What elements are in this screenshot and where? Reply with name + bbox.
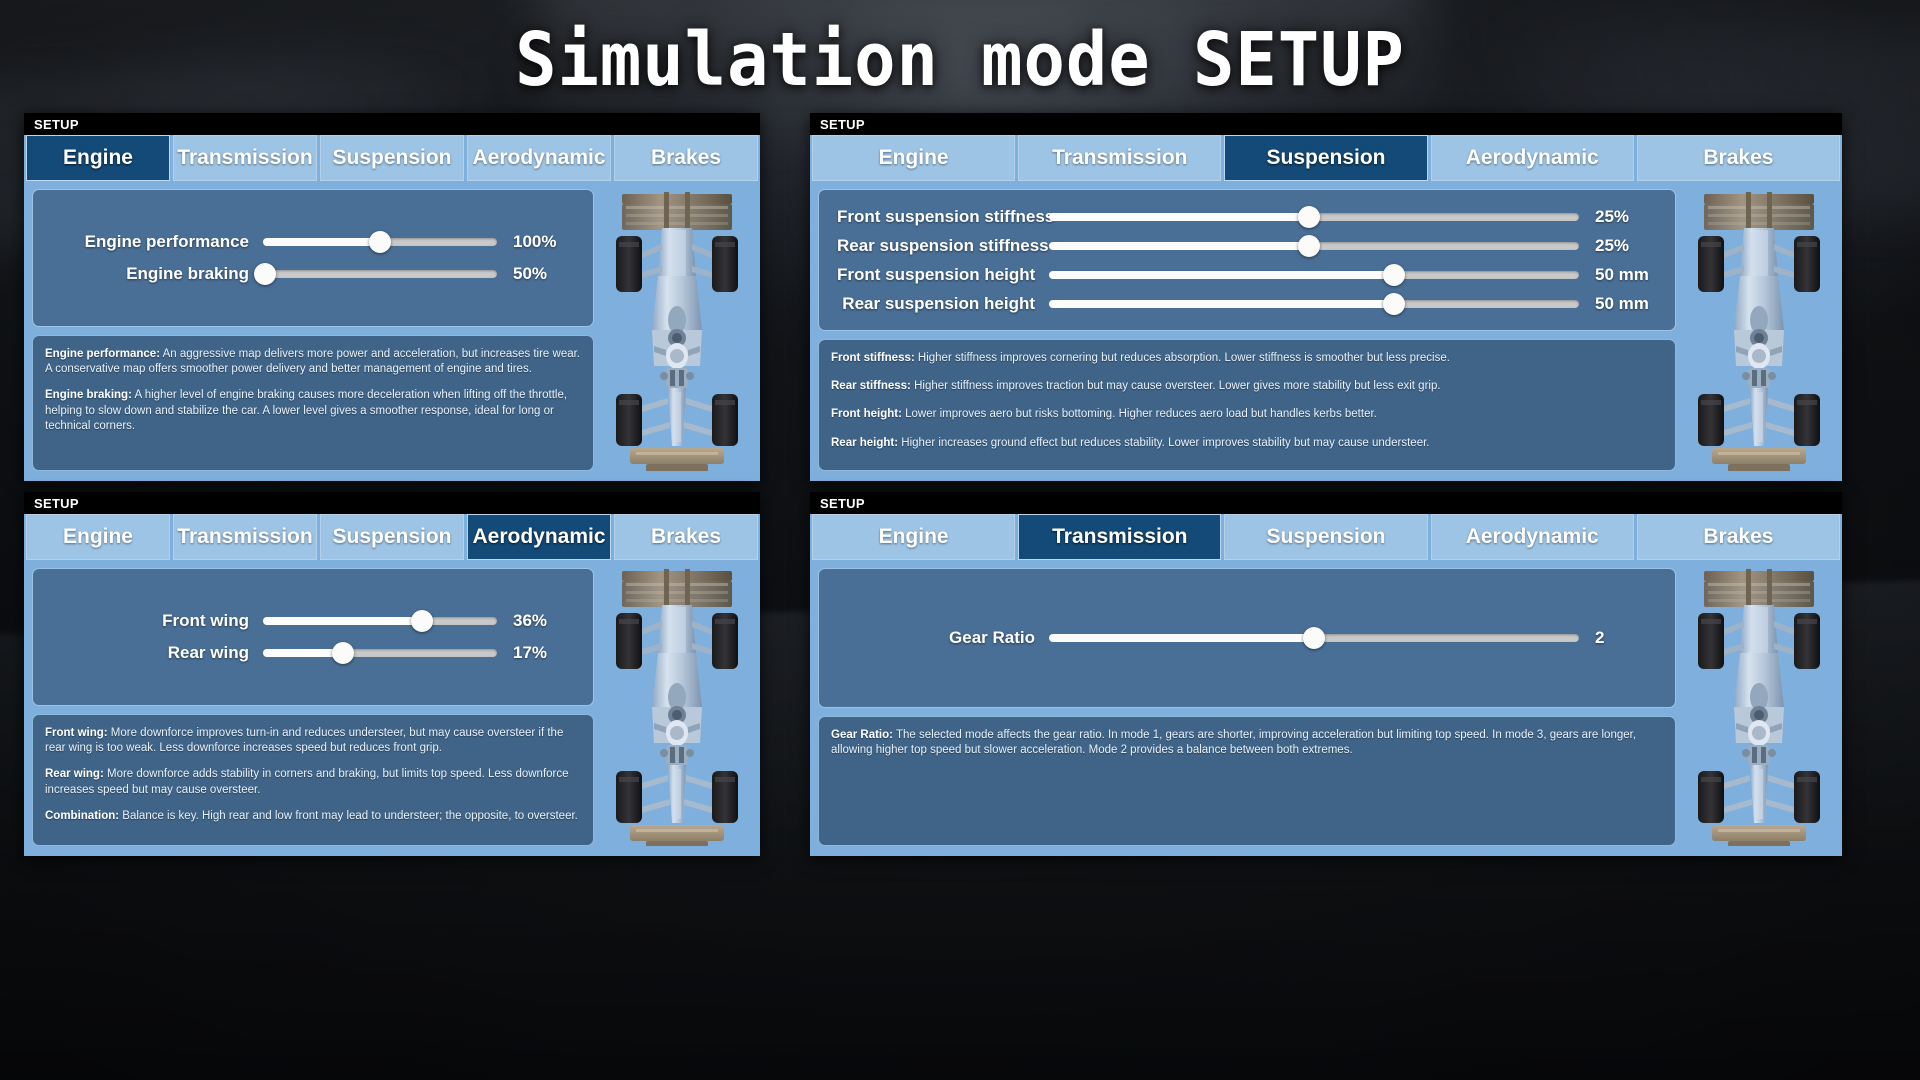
panel-titlebar-engine: SETUP [24,113,760,135]
slider-track[interactable] [263,270,497,278]
tab-transmission[interactable]: Transmission [1018,135,1221,181]
slider-label: Front wing [51,611,263,631]
sliders-card: Front suspension stiffness25%Rear suspen… [818,189,1676,331]
slider-track[interactable] [263,238,497,246]
panel-titlebar-label: SETUP [34,117,79,132]
tab-label: Suspension [332,525,451,549]
slider-value: 2 [1579,628,1657,648]
description-paragraph: Combination: Balance is key. High rear a… [45,809,581,824]
tabbar-engine: EngineTransmissionSuspensionAerodynamicB… [24,135,760,181]
slider-value: 25% [1579,207,1657,227]
tab-suspension[interactable]: Suspension [1224,135,1427,181]
panel-titlebar-label: SETUP [820,496,865,511]
panel-titlebar-label: SETUP [34,496,79,511]
slider-thumb[interactable] [1303,627,1325,649]
panel-body-aerodynamic: EngineTransmissionSuspensionAerodynamicB… [24,514,760,856]
slider-thumb[interactable] [1298,206,1320,228]
setup-panel-transmission: SETUPEngineTransmissionSuspensionAerodyn… [810,492,1842,856]
tab-label: Aerodynamic [1466,146,1599,170]
description-paragraph: Engine braking: A higher level of engine… [45,388,581,434]
setup-panel-suspension: SETUPEngineTransmissionSuspensionAerodyn… [810,113,1842,481]
tabbar-aerodynamic: EngineTransmissionSuspensionAerodynamicB… [24,514,760,560]
tab-brakes[interactable]: Brakes [1637,135,1840,181]
description-paragraph: Front stiffness: Higher stiffness improv… [831,351,1663,366]
slider-thumb[interactable] [1298,235,1320,257]
description-paragraph: Front height: Lower improves aero but ri… [831,407,1663,422]
page-title: Simulation mode SETUP [67,14,1853,106]
description-term: Front height: [831,408,902,420]
description-term: Engine performance: [45,348,160,360]
setup-panel-aerodynamic: SETUPEngineTransmissionSuspensionAerodyn… [24,492,760,856]
panel-content-transmission: Gear Ratio2Gear Ratio: The selected mode… [810,560,1842,856]
slider-row: Rear wing17% [51,637,575,669]
panel-titlebar-aerodynamic: SETUP [24,492,760,514]
tab-brakes[interactable]: Brakes [614,135,758,181]
slider-row: Engine braking50% [51,258,575,290]
tab-label: Suspension [332,146,451,170]
tab-engine[interactable]: Engine [812,514,1015,560]
tab-brakes[interactable]: Brakes [1637,514,1840,560]
tab-label: Aerodynamic [472,146,605,170]
tab-suspension[interactable]: Suspension [320,514,464,560]
description-card: Front stiffness: Higher stiffness improv… [818,339,1676,471]
slider-track[interactable] [1049,634,1579,642]
slider-value: 50% [497,264,575,284]
f1-car-top-view-icon [602,189,752,471]
slider-label: Engine performance [51,232,263,252]
description-term: Rear height: [831,437,898,449]
description-term: Combination: [45,810,119,822]
slider-fill [263,617,422,625]
tab-transmission[interactable]: Transmission [173,135,317,181]
tab-label: Brakes [651,525,721,549]
panel-titlebar-suspension: SETUP [810,113,1842,135]
slider-fill [1049,634,1314,642]
slider-track[interactable] [1049,213,1579,221]
description-term: Front stiffness: [831,352,915,364]
settings-column: Engine performance100%Engine braking50%E… [32,189,594,471]
tab-label: Transmission [1052,525,1187,549]
tab-engine[interactable]: Engine [812,135,1015,181]
settings-column: Front suspension stiffness25%Rear suspen… [818,189,1676,471]
panel-titlebar-label: SETUP [820,117,865,132]
tab-aerodynamic[interactable]: Aerodynamic [1431,514,1634,560]
car-preview-column [1684,568,1834,846]
tabbar-suspension: EngineTransmissionSuspensionAerodynamicB… [810,135,1842,181]
slider-fill [263,238,380,246]
description-card: Engine performance: An aggressive map de… [32,335,594,471]
tab-label: Brakes [1703,525,1773,549]
slider-fill [1049,271,1394,279]
description-paragraph: Rear wing: More downforce adds stability… [45,767,581,797]
panel-content-engine: Engine performance100%Engine braking50%E… [24,181,760,481]
slider-track[interactable] [1049,242,1579,250]
description-term: Rear stiffness: [831,380,911,392]
slider-row: Front suspension height50 mm [837,260,1657,289]
description-paragraph: Engine performance: An aggressive map de… [45,347,581,377]
slider-fill [1049,242,1309,250]
slider-value: 100% [497,232,575,252]
slider-fill [263,649,343,657]
tab-label: Transmission [1052,146,1187,170]
slider-label: Front suspension stiffness [837,207,1049,227]
car-illustration [602,189,752,471]
f1-car-top-view-icon [602,568,752,846]
slider-row: Rear suspension height50 mm [837,289,1657,318]
description-paragraph: Front wing: More downforce improves turn… [45,726,581,756]
setup-panel-engine: SETUPEngineTransmissionSuspensionAerodyn… [24,113,760,481]
description-term: Front wing: [45,727,108,739]
slider-value: 50 mm [1579,294,1657,314]
sliders-card: Engine performance100%Engine braking50% [32,189,594,327]
tab-label: Brakes [651,146,721,170]
tab-label: Aerodynamic [1466,525,1599,549]
tab-engine[interactable]: Engine [26,135,170,181]
tab-brakes[interactable]: Brakes [614,514,758,560]
slider-thumb[interactable] [332,642,354,664]
description-term: Rear wing: [45,768,104,780]
slider-row: Gear Ratio2 [837,624,1657,653]
car-preview-column [602,189,752,471]
slider-label: Rear suspension height [837,294,1049,314]
sliders-card: Front wing36%Rear wing17% [32,568,594,706]
slider-fill [1049,213,1309,221]
tab-aerodynamic[interactable]: Aerodynamic [1431,135,1634,181]
slider-row: Engine performance100% [51,226,575,258]
tab-label: Engine [879,146,949,170]
tab-suspension[interactable]: Suspension [320,135,464,181]
slider-thumb[interactable] [411,610,433,632]
description-card: Gear Ratio: The selected mode affects th… [818,716,1676,846]
slider-track[interactable] [1049,300,1579,308]
car-preview-column [602,568,752,846]
tabbar-transmission: EngineTransmissionSuspensionAerodynamicB… [810,514,1842,560]
description-paragraph: Rear height: Higher increases ground eff… [831,436,1663,451]
slider-label: Front suspension height [837,265,1049,285]
slider-track[interactable] [263,649,497,657]
tab-engine[interactable]: Engine [26,514,170,560]
car-preview-column [1684,189,1834,471]
slider-row: Front suspension stiffness25% [837,202,1657,231]
slider-track[interactable] [1049,271,1579,279]
panel-content-aerodynamic: Front wing36%Rear wing17%Front wing: Mor… [24,560,760,856]
slider-value: 17% [497,643,575,663]
tab-aerodynamic[interactable]: Aerodynamic [467,514,611,560]
slider-thumb[interactable] [1383,264,1405,286]
slider-track[interactable] [263,617,497,625]
car-illustration [602,568,752,846]
slider-fill [1049,300,1394,308]
slider-thumb[interactable] [1383,293,1405,315]
tab-label: Engine [879,525,949,549]
panel-titlebar-transmission: SETUP [810,492,1842,514]
tab-label: Aerodynamic [472,525,605,549]
description-paragraph: Gear Ratio: The selected mode affects th… [831,728,1663,758]
tab-label: Suspension [1266,146,1385,170]
tab-label: Transmission [177,146,312,170]
tab-suspension[interactable]: Suspension [1224,514,1427,560]
slider-label: Rear suspension stiffness [837,236,1049,256]
slider-row: Front wing36% [51,605,575,637]
slider-row: Rear suspension stiffness25% [837,231,1657,260]
slider-value: 25% [1579,236,1657,256]
sliders-card: Gear Ratio2 [818,568,1676,708]
panel-body-suspension: EngineTransmissionSuspensionAerodynamicB… [810,135,1842,481]
slider-value: 36% [497,611,575,631]
car-illustration [1684,568,1834,846]
slider-thumb[interactable] [254,263,276,285]
slider-label: Engine braking [51,264,263,284]
tab-label: Brakes [1703,146,1773,170]
description-card: Front wing: More downforce improves turn… [32,714,594,846]
slider-label: Gear Ratio [837,628,1049,648]
f1-car-top-view-icon [1684,189,1834,471]
car-illustration [1684,189,1834,471]
slider-label: Rear wing [51,643,263,663]
tab-label: Suspension [1266,525,1385,549]
panel-content-suspension: Front suspension stiffness25%Rear suspen… [810,181,1842,481]
tab-label: Engine [63,525,133,549]
tab-aerodynamic[interactable]: Aerodynamic [467,135,611,181]
tab-label: Transmission [177,525,312,549]
tab-label: Engine [63,146,133,170]
slider-thumb[interactable] [369,231,391,253]
settings-column: Front wing36%Rear wing17%Front wing: Mor… [32,568,594,846]
panel-body-engine: EngineTransmissionSuspensionAerodynamicB… [24,135,760,481]
description-term: Gear Ratio: [831,729,893,741]
tab-transmission[interactable]: Transmission [1018,514,1221,560]
description-paragraph: Rear stiffness: Higher stiffness improve… [831,379,1663,394]
settings-column: Gear Ratio2Gear Ratio: The selected mode… [818,568,1676,846]
slider-value: 50 mm [1579,265,1657,285]
panel-body-transmission: EngineTransmissionSuspensionAerodynamicB… [810,514,1842,856]
description-term: Engine braking: [45,389,132,401]
f1-car-top-view-icon [1684,568,1834,846]
tab-transmission[interactable]: Transmission [173,514,317,560]
